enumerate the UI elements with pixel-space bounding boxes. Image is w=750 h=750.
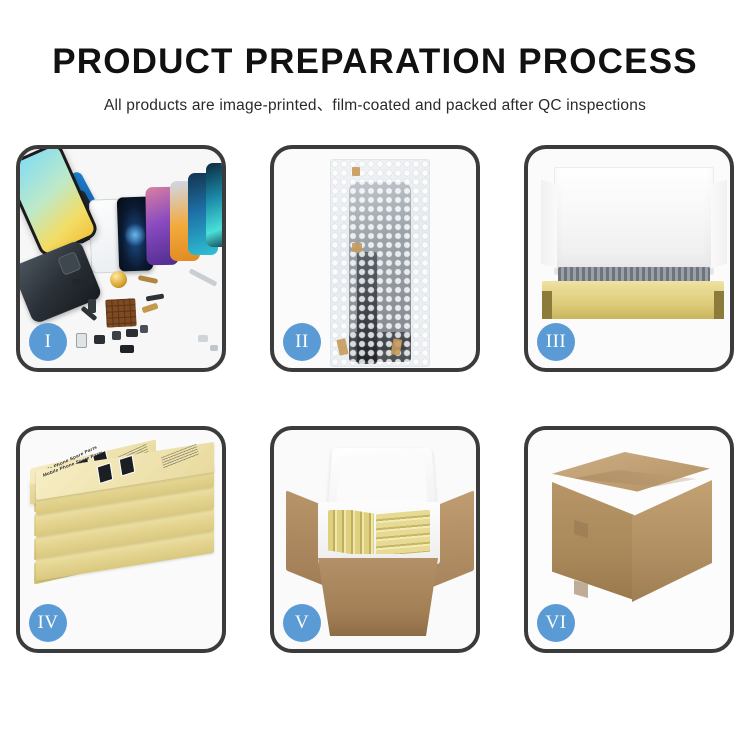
page-title: PRODUCT PREPARATION PROCESS xyxy=(0,44,750,79)
small-chip-part xyxy=(140,325,148,333)
flex-cable-gold-b xyxy=(141,303,158,314)
carton-right-face xyxy=(632,480,712,602)
step-badge-1: I xyxy=(29,323,67,361)
logic-board-chip xyxy=(105,298,136,328)
label-phone-thumb-c xyxy=(97,462,114,484)
carton-tape-lower xyxy=(574,580,588,598)
earpiece-part xyxy=(72,279,94,285)
kraft-box-front xyxy=(542,291,724,319)
step-badge-6: VI xyxy=(537,604,575,642)
carton-body-open xyxy=(318,558,438,636)
carton-left-face xyxy=(552,482,634,600)
step-panel-5: V xyxy=(270,426,480,653)
flex-cable-gold xyxy=(138,275,159,284)
connector-part-a xyxy=(88,299,96,313)
step-badge-2: II xyxy=(283,323,321,361)
product-preparation-infographic: PRODUCT PREPARATION PROCESS All products… xyxy=(0,0,750,750)
page-subtitle: All products are image-printed、film-coat… xyxy=(0,93,750,115)
step-badge-3: III xyxy=(537,323,575,361)
taptic-engine-part xyxy=(120,345,134,353)
foam-sheet xyxy=(562,193,704,255)
step-panel-6: VI xyxy=(524,426,734,653)
label-phone-thumb-d xyxy=(119,455,136,477)
step-panel-1: I xyxy=(16,145,226,372)
flex-cable-b xyxy=(146,293,165,301)
phone-teal xyxy=(206,163,222,247)
step-badge-5: V xyxy=(283,604,321,642)
steps-grid: I II xyxy=(16,145,734,680)
speaker-part xyxy=(126,329,138,337)
tape-piece-2 xyxy=(352,243,362,252)
packed-boxes-inside xyxy=(328,510,430,554)
camera-module-part xyxy=(94,335,105,344)
packed-boxes-left-group xyxy=(328,510,374,554)
step-badge-4: IV xyxy=(29,604,67,642)
header: PRODUCT PREPARATION PROCESS All products… xyxy=(0,0,750,115)
step-panel-4: Mobile Phone Spare Parts Mobile Phone Sp… xyxy=(16,426,226,653)
label-text-lines-front xyxy=(161,444,199,469)
bubble-wrap-bag xyxy=(330,159,430,367)
kraft-box-right-edge xyxy=(714,291,724,319)
screw-part xyxy=(210,345,218,351)
tape-piece-1 xyxy=(352,167,360,176)
sim-tray-part xyxy=(76,333,87,348)
step-panel-2: II xyxy=(270,145,480,372)
vibration-motor-part xyxy=(110,271,127,288)
screwdriver-bit xyxy=(198,335,208,342)
packed-boxes-right-group xyxy=(376,510,430,554)
step-panel-3: III xyxy=(524,145,734,372)
tweezers-tool xyxy=(189,268,218,286)
bubble-texture xyxy=(331,160,429,366)
kraft-box-left-edge xyxy=(542,291,552,319)
screw-bracket-part xyxy=(112,331,121,340)
